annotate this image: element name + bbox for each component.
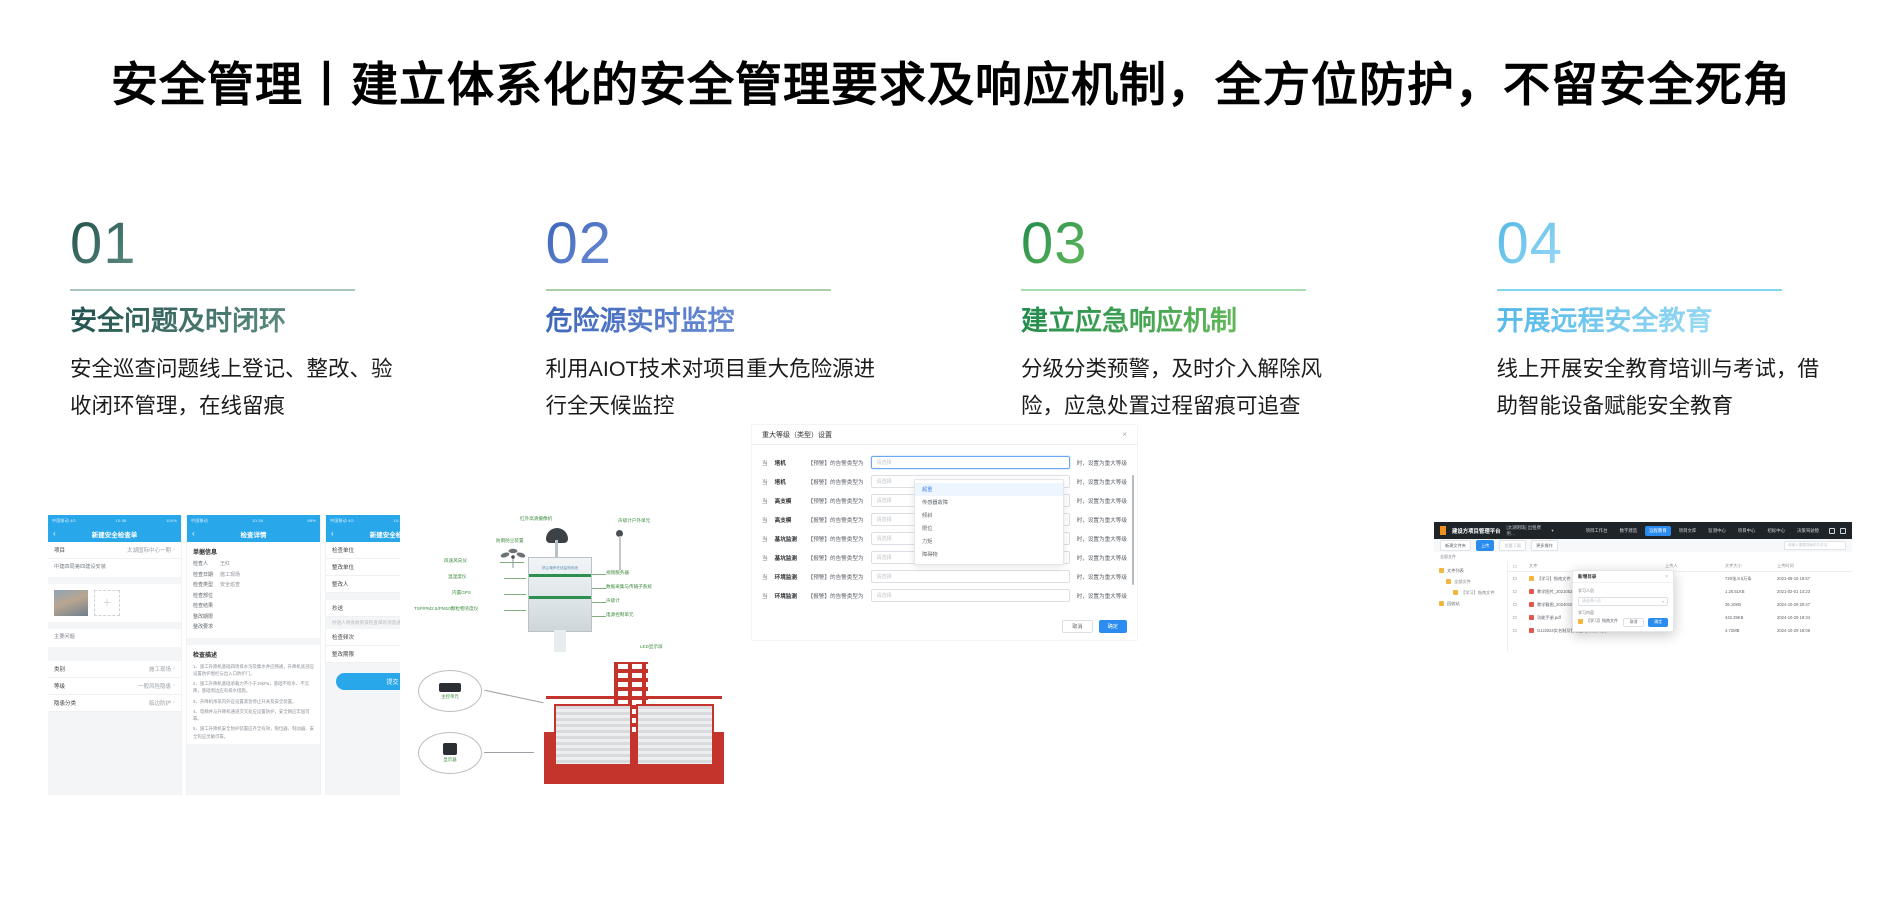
confirm-button[interactable]: 确定 [1099,620,1127,633]
env-label-dataacq: 数据采集与传输子系统 [606,584,652,590]
row-tail: 时，设置为重大等级 [1077,535,1127,543]
nav-item[interactable]: 项目文库 [1675,526,1701,536]
cabinet-stripe [529,596,591,599]
detail-row: 检查类型安全巡查 [193,581,314,588]
page-title: 安全管理丨建立体系化的安全管理要求及响应机制，全方位防护，不留安全死角 [0,46,1902,115]
folder-icon [1529,576,1534,581]
col-file: 文件 [1529,563,1665,569]
thumbnail-image [54,590,88,616]
feature-column-04: 04 开展远程安全教育 线上开展安全教育培训与考试，借助智能设备赋能安全教育 [1427,215,1902,465]
chevron-right-icon: › [173,700,175,706]
row-condition: 【报警】的告警类型为 [808,478,864,486]
modal-title: 新增目录 [1578,574,1596,580]
chevron-down-icon: ▾ [1662,599,1664,604]
row-condition: 【报警】的告警类型为 [808,554,864,562]
leader-line [500,562,524,563]
env-station-diagram: 扬尘噪声在线监测系统 红外高清摄像机 声级计户外单元 防雨防尘装置 风速风向仪 … [400,512,738,652]
row-label: 类别 [54,665,65,673]
file-name: 【学习】指南文件 [1537,576,1571,582]
alarm-type-select[interactable]: 请选择 [871,589,1070,602]
alarm-type-select[interactable]: 请选择 [871,570,1070,583]
row-label: 等级 [54,682,65,690]
nav-item[interactable]: 项目工作台 [1582,526,1612,536]
callout-control-unit: 主控单元 [418,670,482,712]
row-condition: 【预警】的告警类型为 [808,459,864,467]
detail-row: 整改期限 [193,613,314,620]
env-label-anemometer: 风速风向仪 [444,558,467,564]
sidebar-item-label: 全部文件 [1454,579,1471,585]
col-time: 上传时间 [1777,563,1847,569]
table-header: ☐ 文件 上传人 文件大小 上传时间 [1508,561,1852,572]
close-icon[interactable]: × [1665,574,1668,580]
spacer [48,577,181,584]
row-label: 检查频次 [332,633,354,641]
control-unit-icon [439,683,461,692]
col-size: 文件大小 [1725,563,1777,569]
modal-header: 新增目录 × [1573,571,1673,583]
spacer [48,654,181,661]
row-when: 当 [762,497,768,505]
field-label: 学习内容 [1578,610,1668,616]
column-description: 线上开展安全教育培训与考试，借助智能设备赋能安全教育 [1497,351,1827,425]
table-row[interactable]: ☐【学习】指南文件720张,8.5万条2021-08-15 19:57 [1508,572,1852,585]
phone-status-bar: 中国移动 10:38 88% [187,515,320,526]
env-label-particulate: TSP/PM2.5/PM10颗粒物浓度仪 [414,606,478,612]
dropdown-option[interactable]: 限位 [915,522,1063,535]
cell-time: 2021-08-15 19:57 [1777,576,1847,581]
row-checkbox[interactable]: ☐ [1513,628,1529,633]
trash-icon [1439,601,1444,606]
column-description: 安全巡查问题线上登记、整改、验收闭环管理，在线留痕 [70,351,400,425]
cell-size: 720张,8.5万条 [1725,576,1777,582]
cabinet-stripe [529,574,591,577]
header-actions [1829,528,1846,534]
column-heading: 建立应急响应机制 [1021,305,1237,339]
column-divider [70,289,355,291]
leader-line [592,602,606,603]
row-when: 当 [762,478,768,486]
row-label: 抄送 [332,604,343,612]
row-object: 塔机 [775,459,801,467]
row-when: 当 [762,554,768,562]
sidebar-item-label: 回收站 [1447,601,1460,607]
add-photo-icon[interactable]: ＋ [94,590,120,616]
dropdown-option[interactable]: 障碍物 [915,548,1063,561]
chevron-right-icon: › [173,547,175,553]
row-label: 整改期限 [332,650,354,658]
nav-item[interactable]: 远程教育 [1645,526,1671,536]
modal-header: 重大等级（类型）设置 × [752,425,1137,445]
row-object: 高支模 [775,516,801,524]
table-row[interactable]: ☐教学图片_20210521173723.jpg1.26.51KB2021-02… [1508,585,1852,598]
leader-line [504,578,526,579]
row-object: 环境监测 [775,592,801,600]
env-label-camera: 红外高清摄像机 [520,516,552,522]
feature-column-01: 01 安全问题及时闭环 安全巡查问题线上登记、整改、验收闭环管理，在线留痕 [0,215,476,465]
leader-line [592,574,606,575]
column-heading: 安全问题及时闭环 [70,305,286,339]
row-tail: 时，设置为重大等级 [1077,459,1127,467]
phone-note: 中建四局第四建设安装 [48,559,181,577]
row-condition: 【预警】的告警类型为 [808,497,864,505]
cabinet-text: 扬尘噪声在线监测系统 [529,566,591,571]
row-object: 环境监测 [775,573,801,581]
leader-line [592,616,606,617]
row-value: 临边防护› [149,699,175,707]
row-tail: 时，设置为重大等级 [1077,592,1127,600]
callout-label: 显示器 [443,757,456,763]
new-directory-modal: 新增目录 × 学习人员 请选择人员 ▾ 学习内容 【学习】指南文件 取消 确定 [1572,570,1674,632]
img-icon [1529,589,1534,594]
sidebar-item[interactable]: 全部文件 [1439,576,1502,587]
field-label: 学习人员 [1578,588,1668,594]
column-divider [1021,289,1306,291]
list-item[interactable]: 等级 一般风险隐患› [48,678,181,695]
env-label-humidity: 温湿度仪 [448,574,466,580]
sidebar-item-label: 文件列表 [1447,568,1464,574]
row-condition: 【预警】的告警类型为 [808,535,864,543]
description-card: 检查描述 1、施工升降机基础四周排水沟及集水井应畅通，升降机底部应设置防护围栏与… [187,645,320,744]
row-value: 太湖国际中心一期› [127,546,175,554]
row-condition: 【报警】的告警类型为 [808,592,864,600]
col-uploader: 上传人 [1665,563,1725,569]
slide-root: 安全管理丨建立体系化的安全管理要求及响应机制，全方位防护，不留安全死角 01 安… [0,0,1902,912]
paragraph: 3、升降机吊笼内外应设置紧急停止开关及安全装置。 [193,698,314,705]
cancel-button[interactable]: 取消 [1062,620,1092,633]
person-select[interactable]: 请选择人员 ▾ [1578,597,1668,606]
status-carrier: 中国移动 4G [330,518,354,524]
row-tail: 时，设置为重大等级 [1077,573,1127,581]
scrollbar-thumb[interactable] [1132,475,1135,585]
dropdown-menu[interactable]: 超重传感器故障倾斜限位力矩障碍物 [914,479,1064,565]
leader-line [484,752,534,753]
table-row[interactable]: ☐教学截图_20240101044452.png36.10KB2024-10-2… [1508,598,1852,611]
row-value: 施工现场› [149,665,175,673]
row-when: 当 [762,459,768,467]
cell-size: 442.39KB [1725,615,1777,620]
logo-icon [1440,526,1446,535]
column-description: 分级分类预警，及时介入解除风险，应急处置过程留痕可追查 [1021,351,1351,425]
sidebar-item[interactable]: 文件列表 [1439,565,1502,576]
row-object: 高支模 [775,497,801,505]
column-number: 03 [1021,215,1088,273]
sidebar: 文件列表全部文件【学习】指南文件回收站 [1434,561,1508,652]
column-divider [1497,289,1782,291]
env-label-sound-meter: 声级计 [606,598,620,604]
callout-label: 主控单元 [441,694,459,700]
env-label-gps: 内置GPS [452,590,471,596]
env-label-rain-cover: 防雨防尘装置 [496,538,524,544]
alarm-rule-row: 当塔机【预警】的告警类型为请选择时，设置为重大等级 [762,453,1127,472]
modal-title: 重大等级（类型）设置 [762,430,832,440]
callout-monitor: 显示器 [418,732,482,774]
file-name: 功能手册.pdf [1537,615,1561,621]
row-object: 基坑监测 [775,535,801,543]
close-icon[interactable]: × [1122,431,1127,439]
cell-size: 36.10KB [1725,602,1777,607]
status-time: 10:36 [115,518,126,523]
row-object: 基坑监测 [775,554,801,562]
spacer [48,647,181,654]
row-value: 一般风险隐患› [138,682,175,690]
status-time: 10:38 [252,518,263,523]
alarm-rule-row: 当环境监测【预警】的告警类型为请选择时，设置为重大等级 [762,567,1127,586]
app-header: 建设方项目管理平台 [太湖明珠] 出租费用… ▾ 项目工作台数字建造远程教育项目… [1434,522,1852,539]
confirm-button[interactable]: 确定 [1648,618,1668,627]
chevron-right-icon: › [173,683,175,689]
more-icon[interactable]: 更多操作 [1531,540,1558,551]
row-label: 整改人 [332,580,349,588]
nav-item[interactable]: 项目中心 [1734,526,1760,536]
detail-row: 检查人王红 [193,560,314,567]
spacer [48,622,181,629]
detail-row: 检查结果 [193,602,314,609]
section-title: 检查描述 [193,650,314,659]
folder-icon [1578,619,1583,624]
row-tail: 时，设置为重大等级 [1077,516,1127,524]
paragraph: 1、施工升降机基础四周排水沟及集水井应畅通，升降机底部应设置防护围栏与出入口防护… [193,663,314,678]
phone-nav-bar: ‹ 新建安全检查单 [48,526,181,542]
status-battery: 100% [166,518,177,523]
hoist-cage-left [554,704,632,766]
row-when: 当 [762,516,768,524]
user-icon[interactable] [1840,528,1846,534]
row-label: 项目 [54,546,65,554]
modal-body: 超重传感器故障倾斜限位力矩障碍物 当塔机【预警】的告警类型为请选择时，设置为重大… [752,445,1137,605]
phone-body: 单据信息 检查人王红 检查日期施工现场 检查类型安全巡查 检查部位 检查结果 整… [187,542,320,795]
project-name: [太湖明珠] 出租费用… [1507,525,1550,537]
cell-time: 2024-10-28 20:47 [1777,602,1847,607]
phone-status-bar: 中国移动 4G 10:36 100% [48,515,181,526]
table-row[interactable]: ☐GJJ2024实名制及智慧工地系统介绍.pdf4.72MB2024-10-29… [1508,624,1852,637]
phone-screen-1: 中国移动 4G 10:36 100% ‹ 新建安全检查单 项目 太湖国际中心一期… [48,515,181,795]
modal-footer: 取消 确定 [1062,620,1127,633]
leader-line [504,610,526,611]
photo-uploader[interactable]: ＋ [48,584,181,622]
modal-footer: 取消 确定 [1623,618,1668,627]
cell-size: 1.26.51KB [1725,589,1777,594]
status-battery: 88% [307,518,316,523]
detail-row: 检查日期施工现场 [193,571,314,578]
detail-card: 单据信息 检查人王红 检查日期施工现场 检查类型安全巡查 检查部位 检查结果 整… [187,542,320,638]
nav-item[interactable]: 招标中心 [1763,526,1789,536]
detail-row: 整改要求 [193,623,314,630]
toolbar: 新建文件夹上传批量下载更多操作请输入需要搜索的文件名 [1434,539,1852,552]
hoist-rail [546,696,722,699]
column-divider [546,289,831,291]
chevron-down-icon: ▾ [1551,528,1553,534]
row-tail: 时，设置为重大等级 [1077,554,1127,562]
column-number: 02 [546,215,613,273]
row-when: 当 [762,535,768,543]
sidebar-item[interactable]: 【学习】指南文件 [1439,587,1502,598]
dropdown-option[interactable]: 超重 [915,483,1063,496]
column-heading: 危险源实时监控 [546,305,735,339]
alarm-type-select[interactable]: 请选择 [871,456,1070,469]
bell-icon[interactable] [1829,528,1835,534]
img-icon [1529,602,1534,607]
screenshot-alarm-level-modal: 重大等级（类型）设置 × 超重传感器故障倾斜限位力矩障碍物 当塔机【预警】的告警… [752,425,1137,640]
cell-size: 4.72MB [1725,628,1777,633]
row-checkbox[interactable]: ☐ [1513,615,1529,620]
phone-title: 新建安全检查单 [48,529,181,539]
folder-icon [1453,590,1458,595]
paragraph: 2、施工升降机基础承载力不小于15kPa，基础不积水、不沉降，基础周边应有排水措… [193,680,314,695]
dropdown-option[interactable]: 力矩 [915,535,1063,548]
row-when: 当 [762,573,768,581]
monitor-icon [443,743,457,755]
nav-item[interactable]: 数字建造 [1616,526,1642,536]
cell-time: 2024-10-29 19:06 [1777,628,1847,633]
project-selector[interactable]: [太湖明珠] 出租费用… ▾ [1507,525,1554,537]
list-item[interactable]: 类别 施工现场› [48,661,181,678]
hoist-illustration [532,660,730,792]
pdf-icon [1529,628,1534,633]
paragraph: 5、施工升降机安全防护装置应齐全有效，限位器、制动器、安全钩应灵敏可靠。 [193,725,314,740]
column-description: 利用AIOT技术对项目重大危险源进行全天候监控 [546,351,876,425]
sidebar-item-label: 【学习】指南文件 [1461,590,1495,596]
phone-title: 检查详情 [187,529,320,539]
monitoring-cabinet: 扬尘噪声在线监测系统 [528,557,592,632]
file-table: ☐ 文件 上传人 文件大小 上传时间 ☐【学习】指南文件720张,8.5万条20… [1508,561,1852,652]
folder-icon [1446,579,1451,584]
row-object: 塔机 [775,478,801,486]
dropdown-option[interactable]: 传感器故障 [915,496,1063,509]
screenshot-env-monitoring: 扬尘噪声在线监测系统 红外高清摄像机 声级计户外单元 防雨防尘装置 风速风向仪 … [400,512,738,797]
hoist-cage-right [636,704,714,766]
file-name: 【学习】指南文件 [1586,618,1618,624]
main-nav: 项目工作台数字建造远程教育项目文库监测中心项目中心招标中心决策驾驶舱 [1582,526,1823,536]
anemometer-icon [496,548,530,570]
detail-row: 检查部位 [193,592,314,599]
nav-item[interactable]: 决策驾驶舱 [1793,526,1823,536]
cell-time: 2021-02-01 14:23 [1777,589,1847,594]
row-when: 当 [762,592,768,600]
phone-screen-2: 中国移动 10:38 88% ‹ 检查详情 单据信息 检查人王红 检查日期施工现… [187,515,320,795]
upload-icon[interactable]: 上传 [1476,540,1494,551]
alarm-rule-row: 当环境监测【报警】的告警类型为请选择时，设置为重大等级 [762,586,1127,605]
column-number: 04 [1497,215,1564,273]
sound-meter-rod [619,536,621,570]
env-label-led-screen: LED显示屏 [640,644,663,650]
download-icon: 批量下载 [1499,540,1526,551]
construction-hoist-diagram: 主控单元 显示器 [400,652,738,797]
row-label: 隐患分类 [54,699,76,707]
select-placeholder: 请选择人员 [1582,599,1601,604]
row-tail: 时，设置为重大等级 [1077,497,1127,505]
status-carrier: 中国移动 [191,518,208,524]
table-body: ☐【学习】指南文件720张,8.5万条2021-08-15 19:57☐教学图片… [1508,572,1852,637]
row-condition: 【报警】的告警类型为 [808,516,864,524]
chevron-right-icon: › [173,666,175,672]
table-row[interactable]: ☐功能手册.pdf442.39KB2024-10-29 19:34 [1508,611,1852,624]
row-condition: 【预警】的告警类型为 [808,573,864,581]
column-heading: 开展远程安全教育 [1497,305,1713,339]
app-brand: 建设方项目管理平台 [1452,527,1501,535]
list-icon [1439,568,1444,573]
env-label-video-server: 视频服务器 [606,570,629,576]
dropdown-option[interactable]: 倾斜 [915,509,1063,522]
leader-line [504,594,526,595]
phone-body: 项目 太湖国际中心一期› 中建四局第四建设安装 ＋ 主要问题 类别 施工现场› [48,542,181,795]
sidebar-item[interactable]: 回收站 [1439,598,1502,609]
folder-plus-icon[interactable]: 新建文件夹 [1440,540,1471,551]
row-tail: 时，设置为重大等级 [1077,478,1127,486]
cell-time: 2024-10-29 19:34 [1777,615,1847,620]
row-checkbox[interactable]: ☐ [1513,576,1529,581]
section-title: 单据信息 [193,547,314,556]
row-checkbox[interactable]: ☐ [1513,589,1529,594]
section-label: 主要问题 [48,629,181,647]
select-all-checkbox[interactable]: ☐ [1513,564,1529,569]
list-item[interactable]: 项目 太湖国际中心一期› [48,542,181,559]
screenshot-admin-platform: 建设方项目管理平台 [太湖明珠] 出租费用… ▾ 项目工作台数字建造远程教育项目… [1434,522,1852,652]
pdf-icon [1529,615,1534,620]
status-carrier: 中国移动 4G [52,518,76,524]
nav-item[interactable]: 监测中心 [1704,526,1730,536]
row-checkbox[interactable]: ☐ [1513,602,1529,607]
leader-line [592,588,606,589]
env-label-power-unit: 电源控制单元 [606,612,634,618]
breadcrumb: 全部文件 [1434,552,1852,561]
cancel-button[interactable]: 取消 [1623,618,1645,627]
search-input[interactable]: 请输入需要搜索的文件名 [1784,541,1846,550]
spacer [187,638,320,645]
row-label: 检查单位 [332,546,354,554]
list-item[interactable]: 隐患分类 临边防护› [48,695,181,712]
phone-nav-bar: ‹ 检查详情 [187,526,320,542]
paragraph: 4、电梯井与升降机通道交叉处应设置防护，安全网应牢固可靠。 [193,708,314,723]
env-label-sound-outdoor: 声级计户外单元 [618,518,650,524]
row-label: 整改单位 [332,563,354,571]
column-number: 01 [70,215,137,273]
